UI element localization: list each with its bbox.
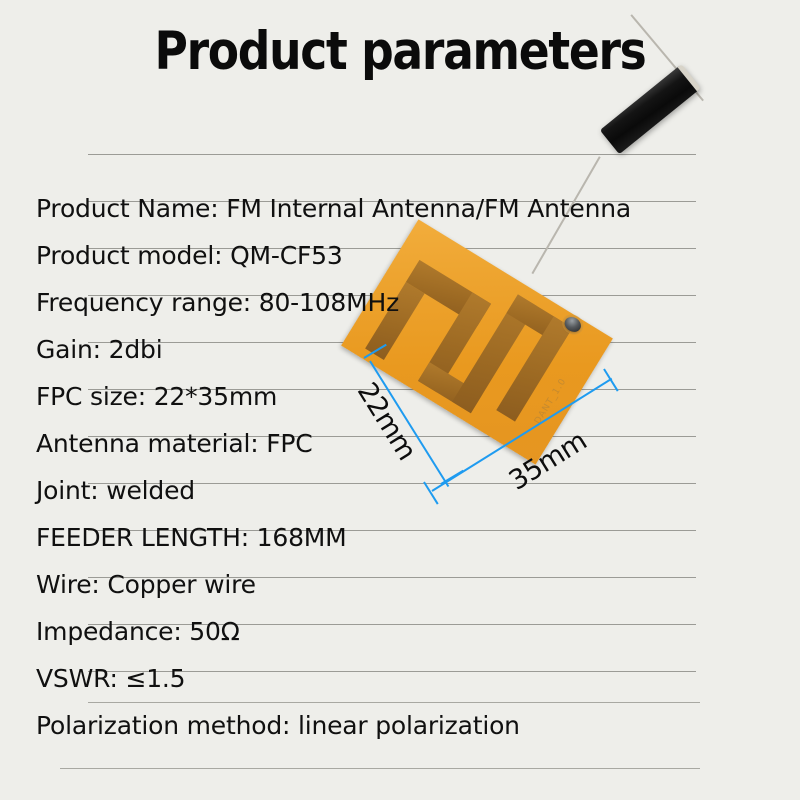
- antenna-trace: [452, 294, 537, 413]
- rule-line: [88, 154, 696, 155]
- product-parameters-image: Product parameters DANT_1.0: [0, 0, 800, 800]
- spec-line-polarization-method: Polarization method: linear polarization: [36, 711, 520, 741]
- antenna-trace: [406, 260, 491, 326]
- rule-line: [88, 702, 700, 703]
- spec-line-product-name: Product Name: FM Internal Antenna/FM Ant…: [36, 194, 631, 224]
- spec-line-product-model: Product model: QM-CF53: [36, 241, 343, 271]
- rule-line: [60, 768, 700, 769]
- antenna-trace: [496, 316, 572, 421]
- spec-line-joint: Joint: welded: [36, 476, 195, 506]
- spec-line-frequency-range: Frequency range: 80-108MHz: [36, 288, 399, 318]
- spec-line-wire: Wire: Copper wire: [36, 570, 256, 600]
- spec-line-vswr: VSWR: ≤1.5: [36, 664, 185, 694]
- antenna-trace: [418, 362, 482, 413]
- spec-line-fpc-size: FPC size: 22*35mm: [36, 382, 277, 412]
- spec-line-gain: Gain: 2dbi: [36, 335, 162, 365]
- silkscreen-label: DANT_1.0: [533, 377, 569, 427]
- solder-joint: [562, 314, 584, 335]
- spec-line-antenna-material: Antenna material: FPC: [36, 429, 313, 459]
- spec-line-feeder-length: FEEDER LENGTH: 168MM: [36, 523, 347, 553]
- dimension-tick: [423, 481, 438, 504]
- dimension-line-length: [431, 378, 612, 492]
- dimension-line-width: [369, 360, 449, 487]
- antenna-trace: [506, 294, 572, 346]
- dimension-label-width: 22mm: [351, 377, 422, 465]
- rule-line: [88, 342, 696, 343]
- dimension-tick: [363, 344, 386, 359]
- page-title: Product parameters: [56, 22, 744, 82]
- spec-line-impedance: Impedance: 50Ω: [36, 617, 240, 647]
